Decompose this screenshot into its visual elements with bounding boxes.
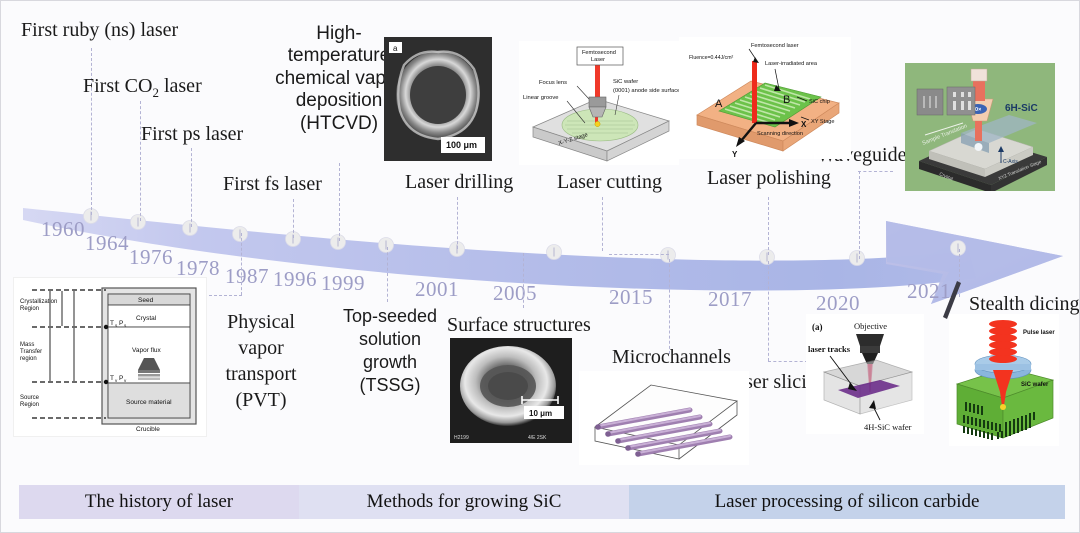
connector-1964 [140, 101, 141, 221]
svg-text:XY Stage: XY Stage [811, 119, 835, 125]
svg-text:region: region [20, 356, 37, 362]
svg-text:P: P [119, 375, 123, 382]
svg-text:Vapor flux: Vapor flux [132, 347, 162, 354]
laser-slicing-diagram: (a) Objective laser tracks 4H-SiC wafer [806, 314, 924, 434]
stealth-wafer-label: SiC wafer [1021, 382, 1049, 388]
svg-text:Linear groove: Linear groove [523, 95, 558, 101]
year-label-1960: 1960 [41, 217, 85, 242]
panel-laser-cutting: Femtosecond Laser Focus lens Linear groo… [519, 41, 679, 165]
connector-1987 [293, 199, 294, 238]
connector-2005-top [602, 197, 603, 251]
svg-text:Source material: Source material [126, 399, 172, 406]
co2-label-pre: First CO [83, 75, 152, 97]
event-first-ps-laser: First ps laser [141, 123, 243, 146]
stealth-pulse-label: Pulse laser [1023, 330, 1055, 336]
year-label-2015: 2015 [609, 285, 653, 310]
surface-structures-sem: 10 μm H2199 4/E 2SK [450, 338, 572, 443]
legend-segment-2: Laser processing of silicon carbide [629, 485, 1065, 519]
svg-text:H2199: H2199 [454, 435, 469, 441]
drilling-corner-tag: a [393, 44, 398, 53]
panel-pvt-diagram: Crystallization Region Mass Transfer reg… [13, 277, 207, 437]
connector-2005 [523, 253, 524, 308]
year-label-2017: 2017 [708, 287, 752, 312]
slicing-objective-label: Objective [854, 321, 887, 331]
svg-text:(0001) anode side surface: (0001) anode side surface [613, 88, 679, 94]
timeline-figure: 1960196419761978198719961999200120052015… [0, 0, 1080, 533]
connector-1976 [191, 148, 192, 227]
panel-waveguide: 50× 6H-SiC Sample Translation C-Axis XYZ… [905, 63, 1055, 191]
svg-text:C-Axis: C-Axis [1003, 159, 1018, 165]
svg-text:Source: Source [20, 395, 40, 401]
svg-text:Region: Region [20, 402, 39, 408]
connector-1996 [339, 163, 340, 241]
svg-text:Seed: Seed [138, 297, 154, 304]
connector-2017-top [768, 197, 769, 255]
connector-2020 [859, 171, 860, 259]
stealth-dicing-pointer [939, 281, 965, 321]
svg-text:SiC chip: SiC chip [809, 99, 830, 105]
svg-text:Femtosecond laser: Femtosecond laser [751, 43, 799, 49]
event-stealth-dicing: Stealth dicing [969, 293, 1080, 316]
year-label-2020: 2020 [816, 291, 860, 316]
svg-text:Mass: Mass [20, 342, 34, 348]
year-label-1996: 1996 [273, 267, 317, 292]
svg-text:4/E 2SK: 4/E 2SK [528, 435, 547, 441]
event-laser-cutting: Laser cutting [557, 171, 662, 194]
panel-laser-drilling: a 100 μm [384, 37, 492, 161]
surface-scalebar: 10 μm [529, 409, 552, 418]
pvt-svg: Crystallization Region Mass Transfer reg… [14, 278, 206, 436]
laser-drilling-sem: a 100 μm [384, 37, 492, 161]
svg-text:T: T [110, 320, 114, 327]
svg-text:X: X [801, 120, 807, 129]
year-label-1964: 1964 [85, 231, 129, 256]
svg-text:Y: Y [732, 150, 738, 159]
svg-text:Crystallization: Crystallization [20, 299, 57, 305]
panel-surface-structures: 10 μm H2199 4/E 2SK [450, 338, 572, 443]
year-label-1987: 1987 [225, 264, 269, 289]
event-microchannels: Microchannels [612, 346, 731, 369]
event-tssg: Top-seeded solution growth (TSSG) [331, 305, 449, 397]
svg-text:Transfer: Transfer [20, 349, 42, 355]
event-first-co2-laser: First CO2 laser [83, 75, 202, 101]
svg-text:Crystal: Crystal [136, 315, 157, 322]
event-laser-drilling: Laser drilling [405, 171, 513, 194]
waveguide-material-label: 6H-SiC [1005, 103, 1038, 114]
slicing-wafer-label: 4H-SiC wafer [864, 422, 912, 432]
panel-stealth-dicing: Pulse laser SiC wafer [949, 314, 1059, 446]
event-first-ruby-laser: First ruby (ns) laser [21, 19, 178, 42]
event-surface-structures: Surface structures [447, 314, 591, 337]
legend-segment-0: The history of laser [19, 485, 299, 519]
svg-text:Laser: Laser [591, 57, 605, 63]
year-label-2001: 2001 [415, 277, 459, 302]
legend-segment-1: Methods for growing SiC [299, 485, 629, 519]
svg-text:Femtosecond: Femtosecond [582, 50, 616, 56]
svg-text:B: B [783, 94, 790, 106]
svg-text:Laser-irradiated area: Laser-irradiated area [765, 61, 818, 67]
event-laser-polishing: Laser polishing [707, 167, 831, 190]
svg-text:Crucible: Crucible [136, 426, 160, 433]
microchannels-diagram [579, 371, 749, 465]
co2-label-post: laser [159, 75, 202, 97]
laser-cutting-diagram: Femtosecond Laser Focus lens Linear groo… [519, 41, 679, 165]
connector-2017 [768, 261, 769, 361]
svg-text:Fluence=0.44J/cm²: Fluence=0.44J/cm² [689, 55, 734, 61]
connector-1978-h [204, 295, 242, 296]
connector-2017-h [768, 361, 808, 362]
svg-text:Scanning direction: Scanning direction [757, 131, 803, 137]
connector-2015 [669, 259, 670, 354]
svg-text:T: T [110, 375, 114, 382]
connector-1978 [241, 233, 242, 295]
year-label-1976: 1976 [129, 245, 173, 270]
panel-laser-polishing: X Y A B Fluence=0.44J/cm² Femtosecond la… [679, 37, 851, 159]
waveguide-diagram: 50× 6H-SiC Sample Translation C-Axis XYZ… [905, 63, 1055, 191]
laser-polishing-diagram: X Y A B Fluence=0.44J/cm² Femtosecond la… [679, 37, 851, 159]
year-label-2005: 2005 [493, 281, 537, 306]
connector-2015-h [609, 254, 669, 255]
slicing-tag: (a) [812, 322, 823, 332]
slicing-tracks-label: laser tracks [808, 344, 851, 354]
panel-laser-slicing: (a) Objective laser tracks 4H-SiC wafer [806, 314, 924, 434]
stealth-dicing-diagram: Pulse laser SiC wafer [949, 314, 1059, 446]
connector-1960 [91, 48, 92, 215]
svg-text:P: P [119, 320, 123, 327]
legend-bar: The history of laserMethods for growing … [19, 485, 1065, 519]
svg-text:SiC wafer: SiC wafer [613, 79, 638, 85]
connector-2020-h [858, 171, 893, 172]
svg-text:Focus lens: Focus lens [539, 80, 567, 86]
drilling-scalebar: 100 μm [446, 140, 477, 150]
connector-1999 [387, 247, 388, 302]
connector-2001 [457, 197, 458, 249]
panel-microchannels [579, 371, 749, 465]
svg-text:Region: Region [20, 306, 39, 312]
year-label-1999: 1999 [321, 271, 365, 296]
event-pvt: Physical vapor transport (PVT) [206, 309, 316, 413]
svg-text:A: A [715, 98, 723, 110]
event-first-fs-laser: First fs laser [223, 173, 322, 196]
